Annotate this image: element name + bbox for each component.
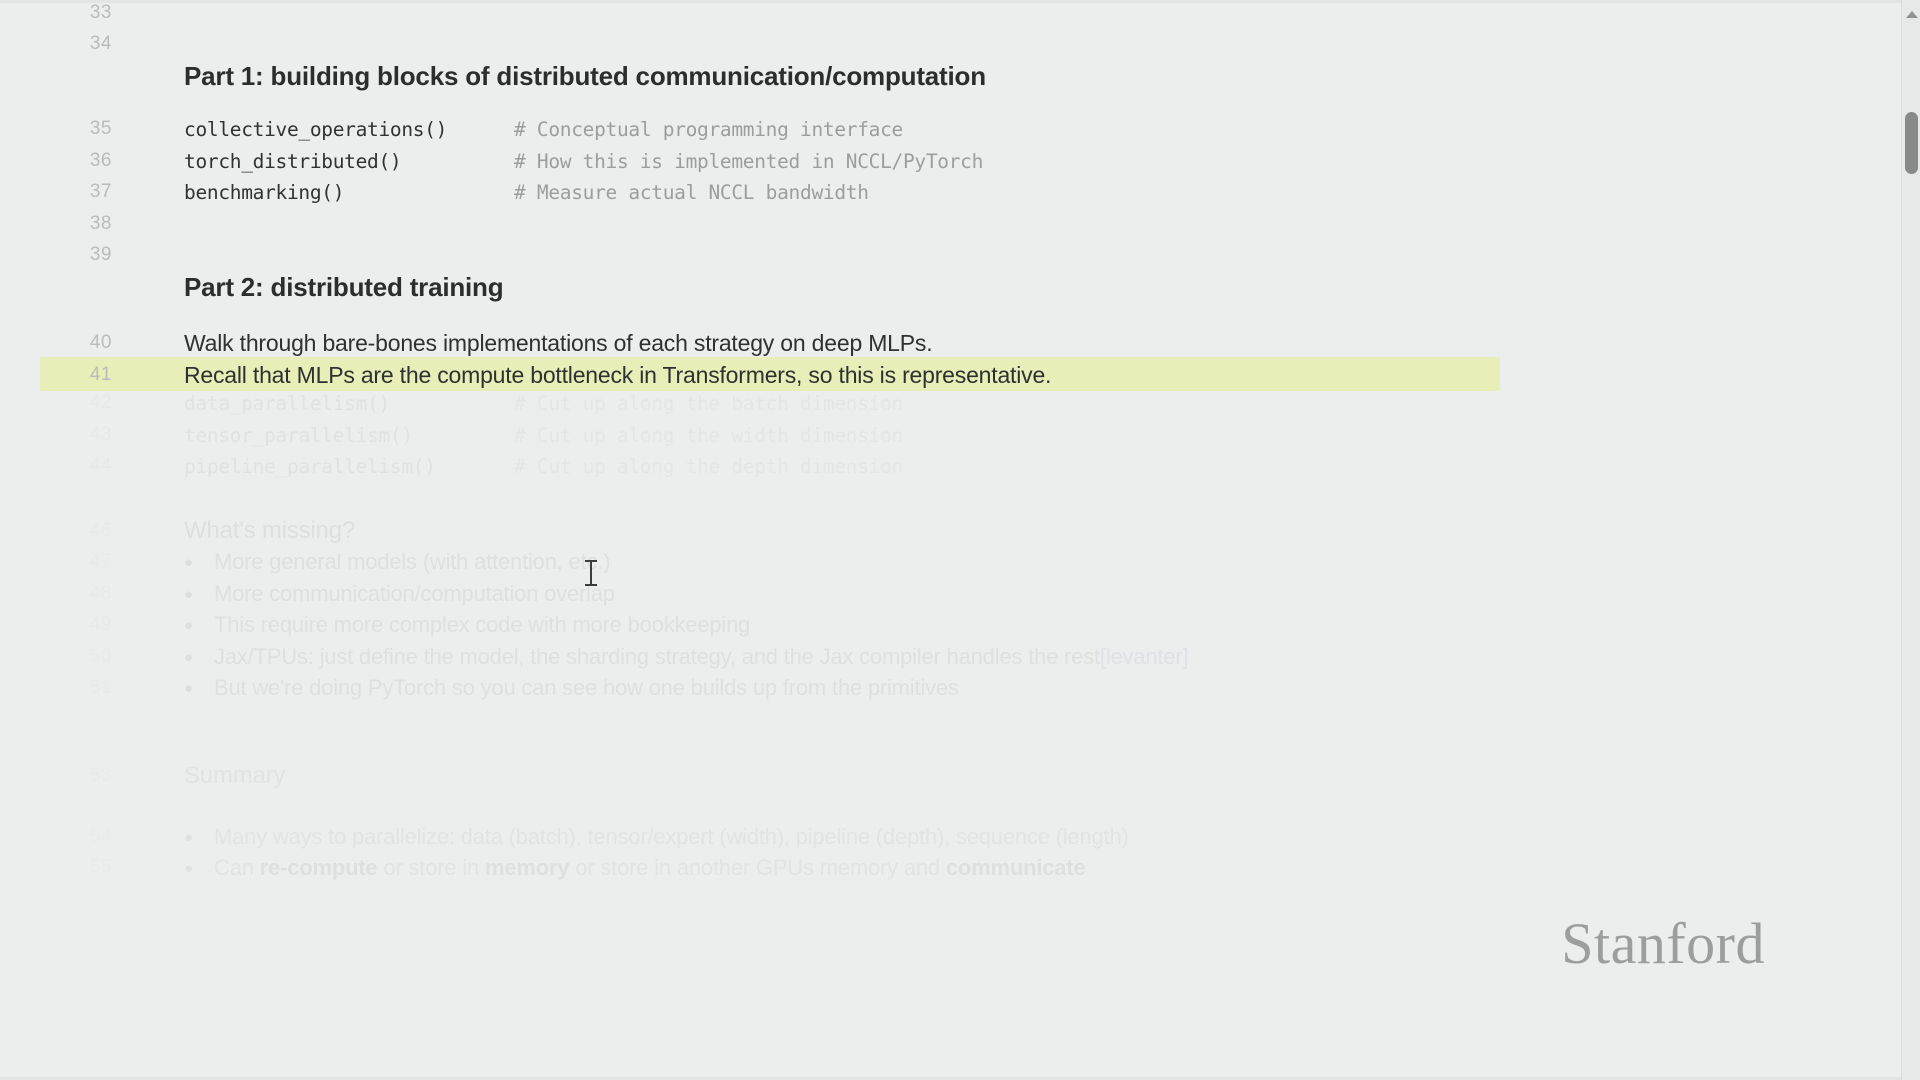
scroll-up-arrow-icon[interactable] <box>1902 6 1920 22</box>
subheading-row-summary: 53 Summary <box>0 757 1920 795</box>
list-item-label: More communication/computation overlap <box>214 581 615 607</box>
plain-text: or store in another GPUs memory and <box>569 855 946 880</box>
triangle-up-icon <box>1906 11 1918 18</box>
bullet-dot-icon: ● <box>184 618 214 633</box>
list-item-label: Many ways to parallelize: data (batch), … <box>214 824 1129 850</box>
list-item-label: More general models (with attention, etc… <box>214 549 610 575</box>
subsection-heading-summary: Summary <box>130 762 1920 790</box>
line-number: 50 <box>0 646 130 668</box>
code-function-name[interactable]: torch_distributed() <box>184 150 514 173</box>
section-heading-part1: Part 1: building blocks of distributed c… <box>130 61 1920 92</box>
bullet-row: 51 ● But we're doing PyTorch so you can … <box>0 669 1920 707</box>
bullet-dot-icon: ● <box>184 830 214 845</box>
code-row-faded: 44 pipeline_parallelism()# Cut up along … <box>0 447 1920 485</box>
line-number: 53 <box>0 765 130 787</box>
code-line[interactable]: data_parallelism()# Cut up along the bat… <box>130 392 1920 415</box>
line-number: 48 <box>0 583 130 605</box>
list-item-label: This require more complex code with more… <box>214 612 750 638</box>
bullet-row: 55 ● Can re-compute or store in memory o… <box>0 849 1920 887</box>
line-number: 49 <box>0 614 130 636</box>
lecture-notes-page: 33 34 Part 1: building blocks of distrib… <box>0 0 1920 1080</box>
line-number: 38 <box>0 213 130 235</box>
emphasis-term: communicate <box>946 855 1086 880</box>
list-item: ● But we're doing PyTorch so you can see… <box>130 675 1920 701</box>
line-number: 43 <box>0 424 130 446</box>
subsection-heading-whats-missing: What's missing? <box>130 517 1920 545</box>
line-number: 36 <box>0 150 130 172</box>
code-comment: # How this is implemented in NCCL/PyTorc… <box>514 150 983 173</box>
code-line[interactable]: benchmarking()# Measure actual NCCL band… <box>130 181 1920 204</box>
bullet-dot-icon: ● <box>184 681 214 696</box>
code-comment: # Cut up along the depth dimension <box>514 455 903 478</box>
line-number: 55 <box>0 857 130 879</box>
list-item: ● More general models (with attention, e… <box>130 549 1920 575</box>
list-item-label: Can re-compute or store in memory or sto… <box>214 855 1086 881</box>
scrollbar-thumb[interactable] <box>1905 112 1918 174</box>
list-item-label: But we're doing PyTorch so you can see h… <box>214 675 959 701</box>
heading-row-part1: Part 1: building blocks of distributed c… <box>0 54 1920 98</box>
prose-line: Walk through bare-bones implementations … <box>130 330 1920 357</box>
line-number: 47 <box>0 551 130 573</box>
code-function-name[interactable]: benchmarking() <box>184 181 514 204</box>
vertical-scrollbar[interactable] <box>1901 0 1920 1080</box>
line-number: 34 <box>0 33 130 55</box>
list-item: ● This require more complex code with mo… <box>130 612 1920 638</box>
bullet-dot-icon: ● <box>184 650 214 665</box>
line-number: 44 <box>0 455 130 477</box>
list-item-label: Jax/TPUs: just define the model, the sha… <box>214 644 1100 670</box>
plain-text: or store in <box>377 855 484 880</box>
list-item: ● Jax/TPUs: just define the model, the s… <box>130 644 1920 670</box>
code-comment: # Cut up along the batch dimension <box>514 392 903 415</box>
levanter-link[interactable]: [levanter] <box>1100 644 1189 670</box>
bullet-dot-icon: ● <box>184 587 214 602</box>
line-number: 39 <box>0 244 130 266</box>
code-comment: # Measure actual NCCL bandwidth <box>514 181 869 204</box>
code-comment: # Cut up along the width dimension <box>514 424 903 447</box>
section-heading-part2: Part 2: distributed training <box>130 272 1920 303</box>
bullet-dot-icon: ● <box>184 555 214 570</box>
code-function-name[interactable]: data_parallelism() <box>184 392 514 415</box>
line-number: 42 <box>0 392 130 414</box>
list-item: ● More communication/computation overlap <box>130 581 1920 607</box>
stanford-wordmark: Stanford <box>1561 910 1765 977</box>
code-comment: # Conceptual programming interface <box>514 118 903 141</box>
line-number: 40 <box>0 332 130 354</box>
code-line[interactable]: pipeline_parallelism()# Cut up along the… <box>130 455 1920 478</box>
code-function-name[interactable]: tensor_parallelism() <box>184 424 514 447</box>
line-number: 54 <box>0 826 130 848</box>
list-item: ● Many ways to parallelize: data (batch)… <box>130 824 1920 850</box>
emphasis-term: memory <box>485 855 569 880</box>
line-number: 35 <box>0 118 130 140</box>
line-number: 51 <box>0 677 130 699</box>
code-function-name[interactable]: collective_operations() <box>184 118 514 141</box>
code-line[interactable]: tensor_parallelism()# Cut up along the w… <box>130 424 1920 447</box>
list-item: ● Can re-compute or store in memory or s… <box>130 855 1920 881</box>
bullet-dot-icon: ● <box>184 861 214 876</box>
line-number: 33 <box>0 2 130 24</box>
code-line[interactable]: collective_operations()# Conceptual prog… <box>130 118 1920 141</box>
plain-text: Can <box>214 855 260 880</box>
line-number: 37 <box>0 181 130 203</box>
text-caret-cursor <box>590 560 592 586</box>
line-number: 46 <box>0 520 130 542</box>
code-line[interactable]: torch_distributed()# How this is impleme… <box>130 150 1920 173</box>
heading-row-part2: Part 2: distributed training <box>0 265 1920 309</box>
line-number: 41 <box>0 364 130 386</box>
code-function-name[interactable]: pipeline_parallelism() <box>184 455 514 478</box>
emphasis-term: re-compute <box>260 855 378 880</box>
